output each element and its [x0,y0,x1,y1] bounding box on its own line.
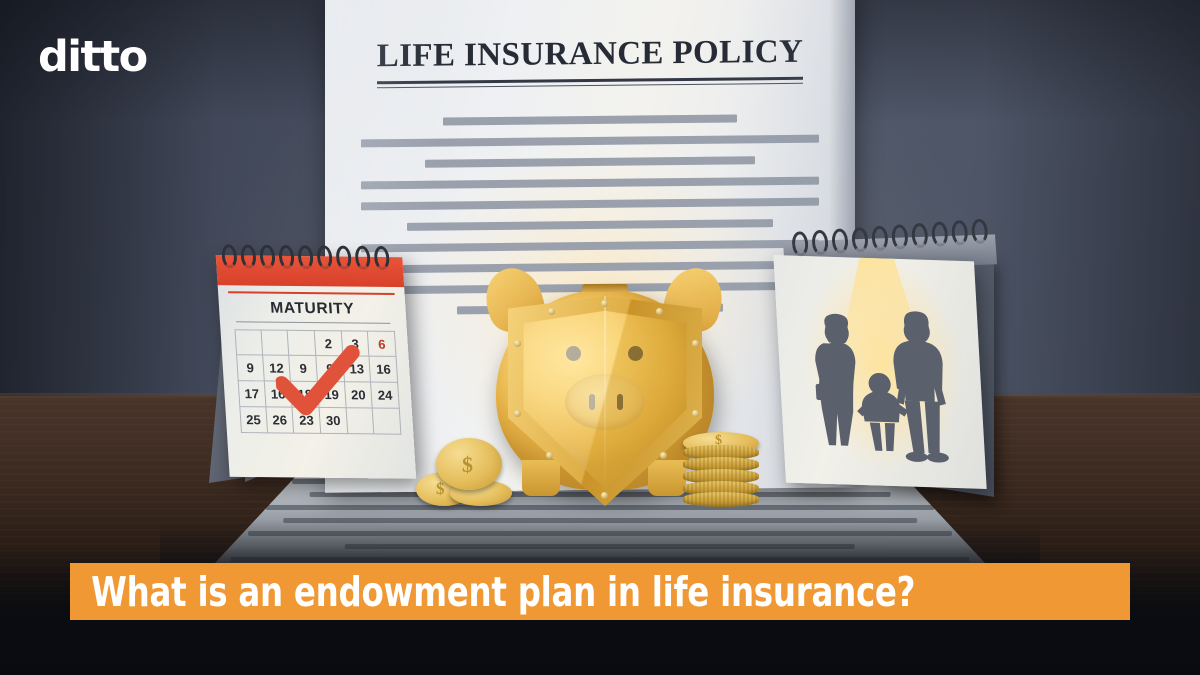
shield-rivet [601,492,608,499]
spiral-ring [316,245,333,269]
calendar-date-cell [234,329,262,355]
calendar-checkmark-icon [273,344,364,425]
calendar-date-cell: 24 [371,383,399,409]
shield-rivet [514,410,521,417]
spiral-ring [891,224,909,250]
calendar-date-cell: 17 [238,381,266,407]
piggy-coin-slot [582,284,628,292]
headline-text: What is an endowment plan in life insura… [70,568,915,616]
spiral-ring [374,246,391,270]
calendar-header-rule [236,321,390,324]
shield-highlight-split [604,296,606,496]
spiral-ring [931,221,949,247]
calendar-date-cell [373,408,401,434]
coin-dollar-symbol: $ [436,479,445,499]
shield-rivet [692,340,699,347]
spiral-ring [297,245,314,269]
calendar-date-cell: 16 [370,357,398,383]
shield-rivet [548,308,555,315]
spiral-ring [911,223,929,249]
calendar-spiral-binding [221,244,397,272]
family-silhouette-icon [802,306,961,470]
board-front-page [773,255,986,489]
thumbnail-canvas: LIFE INSURANCE POLICY MATURITY 236912991… [0,0,1200,675]
piggy-leg-right [648,460,686,496]
shield-rivet [514,340,521,347]
spiral-ring [278,245,295,269]
spiral-ring [811,229,829,255]
coin [683,492,759,507]
spiral-ring [871,225,889,251]
calendar-card: MATURITY 2369129913161716181920242526233… [216,255,416,479]
calendar-date-cell: 9 [236,355,264,381]
spiral-ring [259,245,276,269]
spiral-ring [335,246,352,270]
headline-banner: What is an endowment plan in life insura… [70,563,1130,620]
ditto-logo[interactable]: ditto [38,36,147,79]
spiral-ring [221,244,238,268]
spiral-ring [354,246,371,270]
maturity-calendar: MATURITY 2369129913161716181920242526233… [205,248,420,493]
coin-stack-right: $ [683,432,761,508]
calendar-red-rule [228,291,395,295]
spiral-ring [240,245,257,269]
spiral-ring [851,227,869,253]
shield-rivet [660,452,667,459]
shield-rivet [546,452,553,459]
calendar-header-label: MATURITY [219,299,407,319]
calendar-date-cell: 6 [368,331,396,357]
shield-rivet [692,410,699,417]
calendar-date-cell: 25 [239,407,267,433]
shield-rivet [656,308,663,315]
family-photo-board [770,232,1020,497]
shield-rivet [601,300,608,307]
spiral-ring [831,228,849,254]
spiral-ring [791,231,809,257]
piggy-leg-left [522,460,560,496]
spiral-ring [971,218,989,244]
spiral-ring [951,220,969,246]
